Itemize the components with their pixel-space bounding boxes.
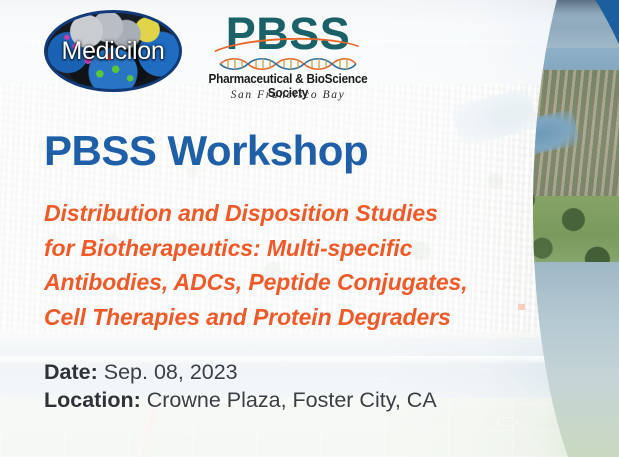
medicilon-wordmark: Medicilon — [44, 37, 182, 66]
pbss-logo[interactable]: PBSS Phar — [196, 12, 380, 102]
subtitle-line: Distribution and Disposition Studies — [44, 196, 544, 231]
location-label: Location: — [44, 388, 141, 412]
event-location-row: Location: Crowne Plaza, Foster City, CA — [44, 386, 437, 414]
date-value: Sep. 08, 2023 — [104, 360, 238, 384]
page-title: PBSS Workshop — [44, 128, 368, 174]
pbss-chapter: San Francisco Bay — [196, 89, 380, 101]
subtitle-line: Cell Therapies and Protein Degraders — [44, 300, 544, 335]
date-label: Date: — [44, 360, 98, 384]
medicilon-logo[interactable]: Medicilon — [44, 10, 182, 92]
location-value: Crowne Plaza, Foster City, CA — [147, 388, 437, 412]
event-subtitle: Distribution and Disposition Studies for… — [44, 196, 544, 334]
event-banner: Medicilon PBSS — [0, 0, 619, 457]
dna-helix-icon — [218, 56, 358, 72]
subtitle-line: Antibodies, ADCs, Peptide Conjugates, — [44, 265, 544, 300]
event-date-row: Date: Sep. 08, 2023 — [44, 358, 437, 386]
event-details: Date: Sep. 08, 2023 Location: Crowne Pla… — [44, 358, 437, 414]
subtitle-line: for Biotherapeutics: Multi-specific — [44, 231, 544, 266]
